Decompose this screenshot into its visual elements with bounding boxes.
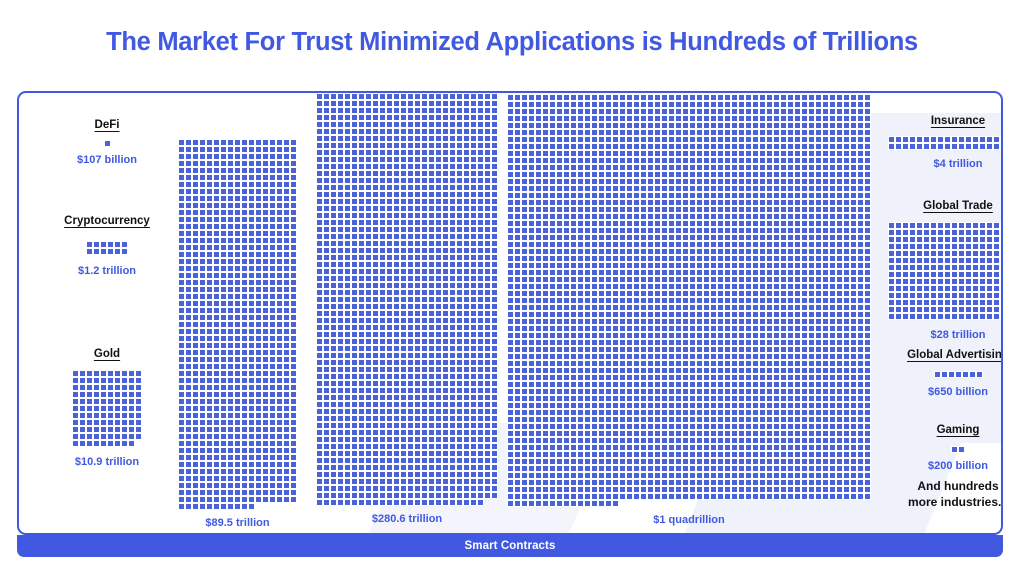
unit-square [121,412,128,419]
unit-square [316,177,323,184]
unit-square [421,205,428,212]
unit-square [358,408,365,415]
unit-square [227,209,234,216]
unit-square [283,356,290,363]
unit-square [351,198,358,205]
unit-square [323,100,330,107]
unit-square [276,279,283,286]
unit-square [269,209,276,216]
unit-square [248,335,255,342]
unit-square [442,163,449,170]
unit-square [400,317,407,324]
unit-square [477,317,484,324]
unit-square [463,184,470,191]
unit-square [248,188,255,195]
unit-square [234,356,241,363]
unit-square [344,366,351,373]
unit-square [234,475,241,482]
unit-square [421,212,428,219]
unit-square [330,289,337,296]
unit-square [330,163,337,170]
unit-square [435,219,442,226]
unit-square [351,261,358,268]
unit-square [248,202,255,209]
unit-square [442,275,449,282]
unit-square [421,331,428,338]
unit-square [86,398,93,405]
unit-square [227,223,234,230]
unit-square [330,471,337,478]
unit-square [400,240,407,247]
unit-square [262,440,269,447]
unit-square [121,248,128,255]
unit-square [393,240,400,247]
unit-square [213,384,220,391]
unit-square [463,240,470,247]
unit-square [386,177,393,184]
unit-square [316,352,323,359]
unit-square [351,191,358,198]
unit-square [463,303,470,310]
unit-square [213,398,220,405]
unit-square [449,226,456,233]
unit-square [283,174,290,181]
unit-square [456,275,463,282]
unit-square [407,422,414,429]
unit-square [393,233,400,240]
unit-square [255,335,262,342]
unit-square [456,464,463,471]
unit-square [428,436,435,443]
unit-square [100,440,107,447]
unit-square [365,394,372,401]
unit-square [269,475,276,482]
unit-square [269,146,276,153]
unit-square [248,356,255,363]
unit-square [442,387,449,394]
unit-square [456,233,463,240]
unit-square [121,426,128,433]
unit-square [400,177,407,184]
unit-square [344,100,351,107]
unit-square [206,300,213,307]
unit-square [185,412,192,419]
unit-square [248,146,255,153]
unit-square [386,485,393,492]
unit-square [379,142,386,149]
unit-square [72,412,79,419]
unit-square [262,265,269,272]
unit-square [435,170,442,177]
unit-square [269,258,276,265]
unit-square [435,163,442,170]
unit-square [248,328,255,335]
unit-square [323,296,330,303]
unit-square [206,258,213,265]
unit-square [407,345,414,352]
unit-square [449,436,456,443]
unit-square [234,216,241,223]
unit-square [255,293,262,300]
unit-square [192,377,199,384]
unit-square [178,482,185,489]
unit-square [414,345,421,352]
unit-square [449,135,456,142]
unit-square [114,391,121,398]
unit-square [456,149,463,156]
unit-square [316,331,323,338]
unit-square [484,471,491,478]
unit-square [442,324,449,331]
unit-square [484,317,491,324]
unit-square [400,443,407,450]
unit-square [337,373,344,380]
unit-square [269,244,276,251]
unit-square [185,300,192,307]
unit-square [470,177,477,184]
unit-square [227,426,234,433]
unit-square [358,198,365,205]
unit-square [386,170,393,177]
unit-square [379,205,386,212]
unit-square [470,212,477,219]
unit-square [456,268,463,275]
unit-square [470,289,477,296]
unit-square [372,254,379,261]
unit-square [477,289,484,296]
unit-square [185,377,192,384]
unit-square [185,342,192,349]
unit-square [351,373,358,380]
unit-square [323,394,330,401]
unit-square [337,275,344,282]
unit-square [414,380,421,387]
unit-square [344,184,351,191]
unit-square [484,310,491,317]
unit-square [484,268,491,275]
unit-square [323,170,330,177]
unit-square [358,142,365,149]
unit-square [192,328,199,335]
unit-square [199,300,206,307]
unit-square [192,258,199,265]
unit-square [393,107,400,114]
unit-square [400,198,407,205]
unit-square [449,464,456,471]
unit-square [463,499,470,506]
unit-square [421,443,428,450]
unit-square [178,384,185,391]
unit-square [248,153,255,160]
unit-square [400,289,407,296]
unit-square [379,177,386,184]
unit-square [290,174,297,181]
unit-square [400,107,407,114]
unit-square [178,258,185,265]
unit-square [407,310,414,317]
unit-square [248,237,255,244]
unit-square [93,412,100,419]
unit-square [262,181,269,188]
unit-square [463,100,470,107]
unit-square [316,212,323,219]
unit-square [213,181,220,188]
unit-square [456,338,463,345]
unit-square [330,100,337,107]
unit-square [276,300,283,307]
unit-square [220,447,227,454]
unit-square [283,321,290,328]
unit-square [393,282,400,289]
unit-square [248,489,255,496]
unit-square [330,93,337,100]
unit-square [316,254,323,261]
unit-square [414,359,421,366]
unit-square [316,408,323,415]
unit-square [290,258,297,265]
unit-square [234,447,241,454]
unit-square [206,174,213,181]
unit-square [407,135,414,142]
unit-square [185,251,192,258]
unit-square [248,433,255,440]
unit-square [199,426,206,433]
unit-square [365,191,372,198]
unit-square [330,135,337,142]
unit-square [316,401,323,408]
unit-square [248,314,255,321]
unit-square [290,412,297,419]
unit-square [421,100,428,107]
unit-square [477,471,484,478]
unit-square [442,233,449,240]
unit-square [262,349,269,356]
unit-square [262,433,269,440]
unit-square [477,457,484,464]
unit-square [269,363,276,370]
unit-square [227,153,234,160]
unit-square [456,499,463,506]
unit-square [477,100,484,107]
unit-square [463,310,470,317]
dot-grid-derivatives [507,135,871,507]
unit-square [484,149,491,156]
unit-square [234,468,241,475]
unit-square [255,265,262,272]
unit-square [255,188,262,195]
unit-square [269,349,276,356]
unit-square [290,370,297,377]
unit-square [379,478,386,485]
unit-square [227,202,234,209]
unit-square [276,335,283,342]
unit-square [449,289,456,296]
unit-square [178,314,185,321]
unit-square [330,443,337,450]
unit-square [344,261,351,268]
unit-square [121,241,128,248]
unit-square [442,184,449,191]
unit-square [255,167,262,174]
unit-square [185,433,192,440]
unit-square [316,338,323,345]
unit-square [470,93,477,100]
unit-square [213,251,220,258]
unit-square [178,167,185,174]
unit-square [372,142,379,149]
unit-square [421,380,428,387]
unit-square [227,174,234,181]
unit-square [442,331,449,338]
unit-square [206,160,213,167]
unit-square [470,303,477,310]
unit-square [330,205,337,212]
unit-square [386,471,393,478]
unit-square [463,380,470,387]
unit-square [365,436,372,443]
unit-square [241,216,248,223]
unit-square [379,114,386,121]
unit-square [220,433,227,440]
unit-square [442,457,449,464]
unit-square [428,226,435,233]
unit-square [227,216,234,223]
unit-square [449,345,456,352]
unit-square [414,471,421,478]
unit-square [269,391,276,398]
unit-square [351,275,358,282]
unit-square [248,209,255,216]
unit-square [206,139,213,146]
unit-square [248,272,255,279]
unit-square [484,401,491,408]
unit-square [192,188,199,195]
unit-square [283,342,290,349]
unit-square [283,447,290,454]
unit-square [351,219,358,226]
unit-square [477,331,484,338]
unit-square [372,324,379,331]
unit-square [128,370,135,377]
unit-square [107,370,114,377]
unit-square [365,401,372,408]
unit-square [290,167,297,174]
unit-square [206,370,213,377]
unit-square [470,366,477,373]
unit-square [358,128,365,135]
unit-square [330,275,337,282]
unit-square [316,240,323,247]
unit-square [484,387,491,394]
unit-square [414,107,421,114]
unit-square [86,405,93,412]
unit-square [456,289,463,296]
unit-square [262,272,269,279]
unit-square [386,212,393,219]
unit-square [199,188,206,195]
unit-square [414,317,421,324]
unit-square [435,114,442,121]
unit-square [206,447,213,454]
unit-square [185,391,192,398]
unit-square [185,489,192,496]
category-value-defi: $107 billion [59,153,155,167]
unit-square [372,289,379,296]
unit-square [290,363,297,370]
unit-square [442,247,449,254]
unit-square [351,401,358,408]
unit-square [477,233,484,240]
unit-square [463,121,470,128]
unit-square [100,391,107,398]
unit-square [365,359,372,366]
unit-square [290,454,297,461]
unit-square [227,447,234,454]
unit-square [393,415,400,422]
unit-square [234,181,241,188]
unit-square [290,244,297,251]
unit-square [199,461,206,468]
unit-square [351,303,358,310]
unit-square [269,482,276,489]
unit-square [241,181,248,188]
unit-square [435,422,442,429]
unit-square [192,202,199,209]
unit-square [358,191,365,198]
unit-square [435,296,442,303]
unit-square [269,307,276,314]
unit-square [93,384,100,391]
unit-square [484,303,491,310]
unit-square [213,440,220,447]
unit-square [428,100,435,107]
unit-square [192,153,199,160]
unit-square [428,107,435,114]
unit-square [213,377,220,384]
unit-square [393,135,400,142]
unit-square [241,335,248,342]
unit-square [470,471,477,478]
unit-square [449,331,456,338]
unit-square [400,93,407,100]
unit-square [477,338,484,345]
unit-square [351,464,358,471]
unit-square [283,279,290,286]
unit-square [262,223,269,230]
unit-square [323,499,330,506]
unit-square [213,349,220,356]
unit-square [199,195,206,202]
unit-square [192,300,199,307]
unit-square [358,492,365,499]
unit-square [358,289,365,296]
unit-square [407,233,414,240]
unit-square [470,296,477,303]
unit-square [255,405,262,412]
unit-square [358,121,365,128]
unit-square [365,93,372,100]
unit-square [323,205,330,212]
unit-square [470,268,477,275]
unit-square [456,415,463,422]
unit-square [435,191,442,198]
unit-square [227,384,234,391]
unit-square [435,100,442,107]
unit-square [213,335,220,342]
unit-square [269,335,276,342]
unit-square [262,286,269,293]
unit-square [337,310,344,317]
